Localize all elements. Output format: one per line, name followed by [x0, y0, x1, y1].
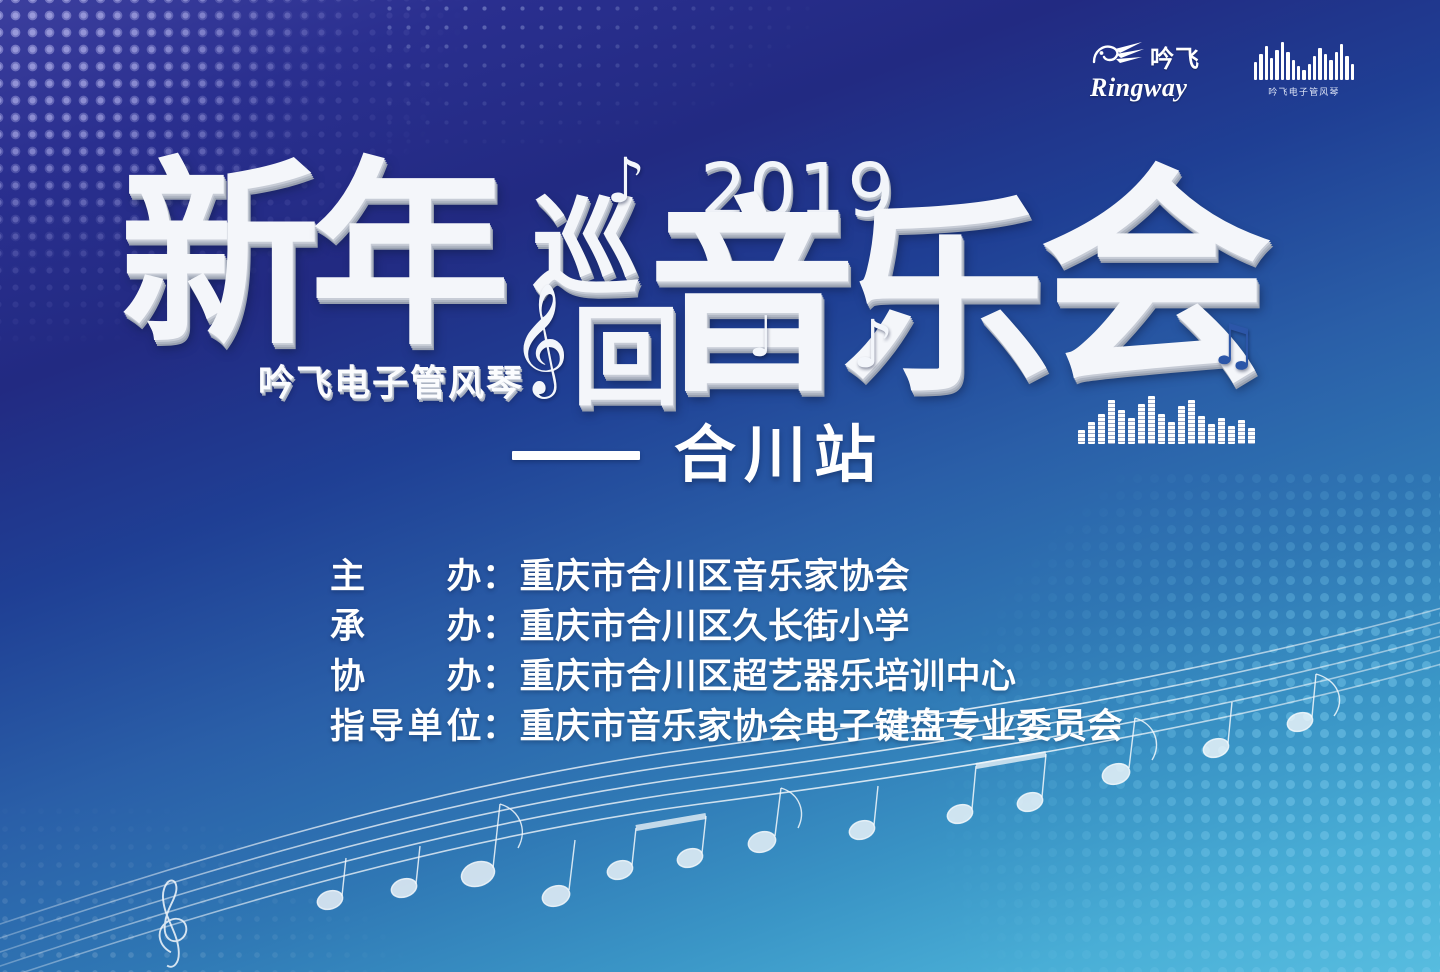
equalizer-bar — [1313, 56, 1316, 80]
credit-label: 指导单位 — [330, 702, 482, 752]
equalizer-bar — [1265, 46, 1268, 80]
credit-colon: ： — [482, 652, 518, 702]
credit-colon: ： — [482, 552, 518, 602]
title-char-xun: 巡 — [532, 198, 638, 301]
title-char-yue: 乐 — [842, 202, 1046, 400]
title-equalizer-bar — [1178, 406, 1185, 444]
title-equalizer-bar — [1158, 414, 1165, 444]
title-char-nian: 年 — [310, 162, 506, 352]
credit-row: 主办：重庆市合川区音乐家协会 — [330, 552, 1123, 602]
equalizer-bar — [1259, 54, 1262, 80]
equalizer-bar — [1351, 64, 1354, 80]
equalizer-bar — [1308, 64, 1311, 80]
credit-value: 重庆市合川区久长街小学 — [520, 602, 911, 652]
organ-logo: 吟飞电子管风琴 — [1254, 40, 1354, 98]
equalizer-bar — [1345, 56, 1348, 80]
credit-value: 重庆市合川区音乐家协会 — [520, 552, 911, 602]
equalizer-bar — [1340, 44, 1343, 80]
title-equalizer-bar — [1168, 422, 1175, 444]
sub-brand-label: 吟飞电子管风琴 — [258, 366, 524, 402]
title-characters: 新 年 巡 音 乐 会 回 — [120, 140, 1268, 400]
credit-colon: ： — [482, 602, 518, 652]
equalizer-bar — [1281, 42, 1284, 80]
title-equalizer-bar — [1218, 418, 1225, 444]
credit-label: 承办 — [330, 602, 482, 652]
credit-colon: ： — [482, 702, 518, 752]
title-equalizer-bar — [1098, 414, 1105, 444]
credit-value: 重庆市音乐家协会电子键盘专业委员会 — [520, 702, 1124, 752]
title-char-kuai: 会 — [1040, 170, 1268, 390]
title-equalizer-bar — [1198, 416, 1205, 444]
credits-block: 主办：重庆市合川区音乐家协会承办：重庆市合川区久长街小学协办：重庆市合川区超艺器… — [330, 552, 1123, 752]
equalizer-bar — [1254, 62, 1257, 80]
headline-block: 2019 新 年 巡 音 乐 会 回 𝄞 ♪ ♩ ♪ ♫ — [0, 140, 1440, 440]
title-equalizer-bar — [1128, 418, 1135, 444]
equalizer-bar — [1292, 60, 1295, 80]
title-char-yin: 音 — [648, 202, 852, 400]
title-equalizer-bar — [1228, 426, 1235, 444]
ringway-logo: 吟飞 Ringway — [1090, 40, 1218, 110]
title-equalizer-bar — [1138, 404, 1145, 444]
equalizer-bar — [1275, 50, 1278, 80]
credit-label: 协办 — [330, 652, 482, 702]
equalizer-bars-icon — [1254, 40, 1354, 80]
title-char-xin: 新 — [120, 162, 316, 352]
credit-value: 重庆市合川区超艺器乐培训中心 — [520, 652, 1017, 702]
equalizer-bar — [1335, 52, 1338, 80]
equalizer-bar — [1324, 54, 1327, 80]
equalizer-bar — [1297, 66, 1300, 80]
equalizer-bar — [1329, 60, 1332, 80]
concert-poster: 吟飞 Ringway 吟飞电子管风琴 2019 新 年 巡 音 乐 会 回 𝄞 … — [0, 0, 1440, 972]
title-equalizer-bar — [1078, 430, 1085, 444]
title-equalizer-icon — [1078, 384, 1255, 444]
organ-logo-caption: 吟飞电子管风琴 — [1254, 85, 1354, 98]
ringway-chinese-name: 吟飞 — [1150, 47, 1200, 71]
station-line: 合川站 — [512, 424, 884, 486]
title-equalizer-bar — [1118, 410, 1125, 444]
title-char-hui: 回 — [572, 308, 678, 411]
title-equalizer-bar — [1188, 400, 1195, 444]
credit-row: 协办：重庆市合川区超艺器乐培训中心 — [330, 652, 1123, 702]
station-label: 合川站 — [674, 424, 884, 486]
station-dash-icon — [512, 451, 640, 460]
credit-row: 指导单位：重庆市音乐家协会电子键盘专业委员会 — [330, 702, 1123, 752]
equalizer-bar — [1270, 58, 1273, 80]
equalizer-bar — [1286, 52, 1289, 80]
credit-row: 承办：重庆市合川区久长街小学 — [330, 602, 1123, 652]
credit-label: 主办 — [330, 552, 482, 602]
equalizer-bar — [1318, 48, 1321, 80]
logo-group: 吟飞 Ringway 吟飞电子管风琴 — [1090, 40, 1354, 110]
title-equalizer-bar — [1088, 422, 1095, 444]
title-equalizer-bar — [1248, 428, 1255, 444]
title-equalizer-bar — [1108, 400, 1115, 444]
equalizer-bar — [1302, 70, 1305, 80]
ringway-latin-name: Ringway — [1090, 75, 1218, 101]
title-equalizer-bar — [1208, 424, 1215, 444]
title-equalizer-bar — [1238, 420, 1245, 444]
title-equalizer-bar — [1148, 396, 1155, 444]
